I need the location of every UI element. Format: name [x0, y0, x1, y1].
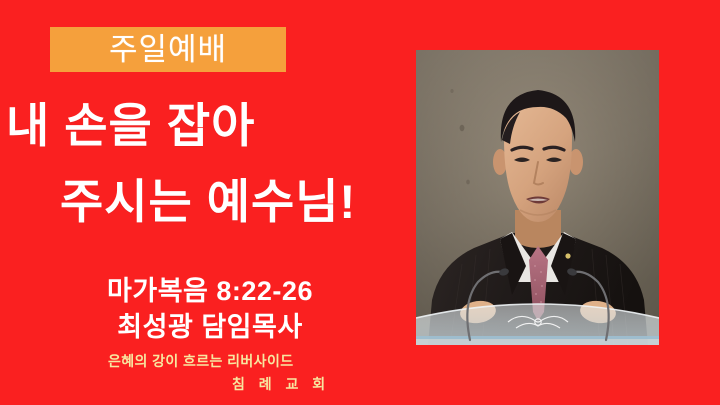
church-name-line-1: 은혜의 강이 흐르는 리버사이드 [108, 354, 294, 368]
sermon-title-line-2: 주시는 예수님! [60, 178, 356, 225]
service-type-badge: 주일예배 [50, 27, 286, 72]
speaker-name: 최성광 담임목사 [0, 314, 420, 341]
speaker-photo [416, 50, 659, 345]
service-type-label: 주일예배 [109, 34, 227, 65]
sermon-title-line-1: 내 손을 잡아 [6, 102, 255, 149]
church-name-line-2: 침 례 교 회 [232, 377, 330, 391]
scripture-reference: 마가복음 8:22-26 [0, 278, 420, 305]
sermon-title-slide: 주일예배 내 손을 잡아 주시는 예수님! 마가복음 8:22-26 최성광 담… [0, 0, 720, 405]
speaker-photo-illustration [416, 50, 659, 345]
